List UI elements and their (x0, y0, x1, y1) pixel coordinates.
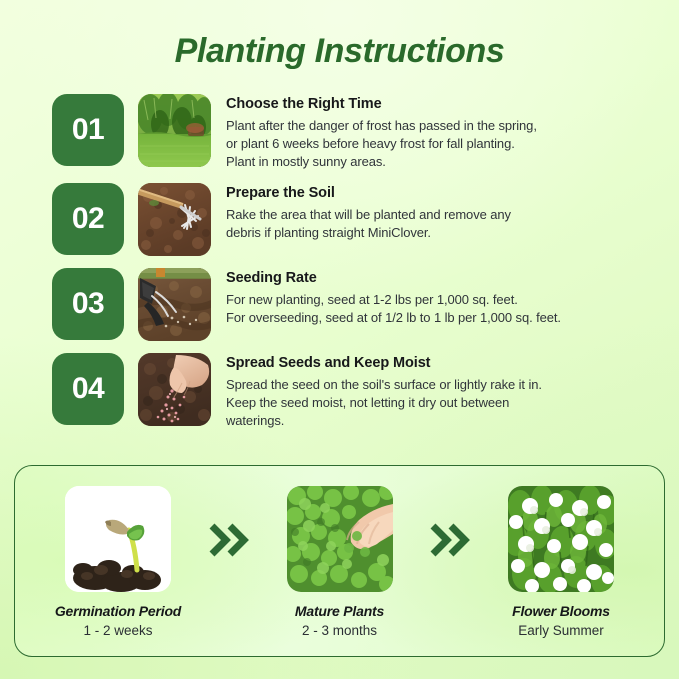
step-body-line: Keep the seed moist, not letting it dry … (226, 394, 652, 412)
step-title: Prepare the Soil (226, 184, 652, 203)
step-text: Prepare the Soil Rake the area that will… (226, 183, 652, 242)
planting-instructions-infographic: Planting Instructions 01 (0, 0, 679, 679)
hand-touching-clover-photo (287, 486, 393, 592)
white-clover-blooms-photo (508, 486, 614, 592)
step-item: 02 (52, 183, 652, 256)
timeline-stages: Germination Period 1 - 2 weeks (15, 466, 664, 656)
step-body-line: For overseeding, seed at of 1/2 lb to 1 … (226, 309, 652, 327)
step-item: 03 (52, 268, 652, 341)
step-body-line: waterings. (226, 412, 652, 430)
step-title: Choose the Right Time (226, 95, 652, 114)
step-body-line: Plant in mostly sunny areas. (226, 153, 652, 171)
sprouting-seedling-photo (65, 486, 171, 592)
step-body-line: Plant after the danger of frost has pass… (226, 117, 652, 135)
growth-timeline-panel: Germination Period 1 - 2 weeks (14, 465, 665, 657)
step-body-line: or plant 6 weeks before heavy frost for … (226, 135, 652, 153)
step-text: Seeding Rate For new planting, seed at 1… (226, 268, 652, 327)
lawn-garden-photo (138, 94, 211, 167)
hand-spreading-seeds-photo (138, 353, 211, 426)
stage-duration: Early Summer (484, 622, 638, 640)
step-title: Seeding Rate (226, 269, 652, 288)
step-body: Spread the seed on the soil's surface or… (226, 376, 652, 430)
step-item: 04 (52, 353, 652, 430)
step-body-line: Rake the area that will be planted and r… (226, 206, 652, 224)
step-body-line: For new planting, seed at 1-2 lbs per 1,… (226, 291, 652, 309)
seeder-on-soil-photo (138, 268, 211, 341)
double-chevron-right-icon (424, 486, 476, 558)
double-chevron-right-icon (203, 486, 255, 558)
step-number-badge: 04 (52, 353, 124, 425)
stage-duration: 2 - 3 months (263, 622, 417, 640)
timeline-stage: Germination Period 1 - 2 weeks (41, 486, 195, 640)
steps-list: 01 (52, 94, 652, 442)
stage-label: Mature Plants (263, 602, 417, 620)
rake-on-soil-photo (138, 183, 211, 256)
timeline-stage: Mature Plants 2 - 3 months (263, 486, 417, 640)
step-body: Plant after the danger of frost has pass… (226, 117, 652, 171)
step-body-line: Spread the seed on the soil's surface or… (226, 376, 652, 394)
stage-label: Flower Blooms (484, 602, 638, 620)
page-title: Planting Instructions (0, 29, 679, 73)
step-item: 01 (52, 94, 652, 171)
step-text: Choose the Right Time Plant after the da… (226, 94, 652, 171)
stage-duration: 1 - 2 weeks (41, 622, 195, 640)
stage-label: Germination Period (41, 602, 195, 620)
step-body: Rake the area that will be planted and r… (226, 206, 652, 242)
timeline-stage: Flower Blooms Early Summer (484, 486, 638, 640)
step-number-badge: 02 (52, 183, 124, 255)
step-body-line: debris if planting straight MiniClover. (226, 224, 652, 242)
step-body: For new planting, seed at 1-2 lbs per 1,… (226, 291, 652, 327)
step-number-badge: 03 (52, 268, 124, 340)
step-text: Spread Seeds and Keep Moist Spread the s… (226, 353, 652, 430)
step-number-badge: 01 (52, 94, 124, 166)
step-title: Spread Seeds and Keep Moist (226, 354, 652, 373)
